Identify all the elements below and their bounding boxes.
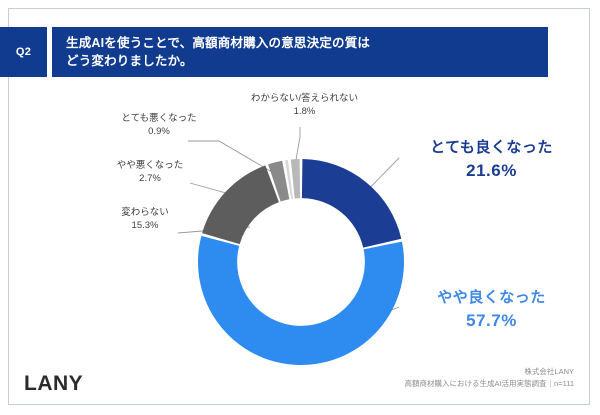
callout-dont-know-label: わからない/答えられない (232, 93, 377, 106)
callout-very-good-label: とても良くなった (404, 138, 579, 158)
callout-very-bad: とても悪くなった 0.9% (99, 113, 219, 139)
donut-slice (302, 159, 401, 248)
footer-company-name: 株式会社LANY (404, 366, 574, 378)
question-header: Q2 生成AIを使うことで、高額商材購入の意思決定の質は どう変わりましたか。 (0, 27, 548, 77)
question-number-badge: Q2 (0, 27, 47, 77)
callout-somewhat-good: やや良くなった 57.7% (404, 288, 579, 333)
question-title-bar: 生成AIを使うことで、高額商材購入の意思決定の質は どう変わりましたか。 (52, 27, 548, 77)
slide-footer: LANY 株式会社LANY 高額商材購入における生成AI活用実態調査｜n=111 (0, 362, 600, 415)
callout-somewhat-bad-value: 2.7% (90, 173, 210, 186)
callout-very-bad-value: 0.9% (99, 126, 219, 139)
donut-slice (202, 165, 279, 244)
callout-dont-know-value: 1.8% (232, 106, 377, 119)
callout-somewhat-bad: やや悪くなった 2.7% (90, 160, 210, 186)
callout-somewhat-good-label: やや良くなった (404, 288, 579, 308)
donut-slice (198, 236, 404, 365)
donut-slice (291, 159, 300, 198)
footer-survey-name: 高額商材購入における生成AI活用実態調査｜n=111 (404, 378, 574, 390)
callout-dont-know: わからない/答えられない 1.8% (232, 93, 377, 119)
donut-rings (196, 157, 406, 367)
callout-very-good-value: 21.6% (404, 160, 579, 183)
question-number-label: Q2 (16, 46, 31, 58)
question-title-text: 生成AIを使うことで、高額商材購入の意思決定の質は どう変わりましたか。 (52, 34, 380, 71)
callout-no-change: 変わらない 15.3% (90, 207, 200, 233)
donut-chart: とても悪くなった 0.9% わからない/答えられない 1.8% やや悪くなった … (0, 85, 600, 370)
lany-logo: LANY (24, 372, 83, 396)
callout-no-change-label: 変わらない (90, 207, 200, 220)
callout-very-bad-label: とても悪くなった (99, 113, 219, 126)
callout-somewhat-bad-label: やや悪くなった (90, 160, 210, 173)
slide-root: Q2 生成AIを使うことで、高額商材購入の意思決定の質は どう変わりましたか。 (0, 0, 600, 415)
callout-no-change-value: 15.3% (90, 220, 200, 233)
footer-credits: 株式会社LANY 高額商材購入における生成AI活用実態調査｜n=111 (404, 366, 574, 390)
callout-very-good: とても良くなった 21.6% (404, 138, 579, 183)
callout-somewhat-good-value: 57.7% (404, 310, 579, 333)
